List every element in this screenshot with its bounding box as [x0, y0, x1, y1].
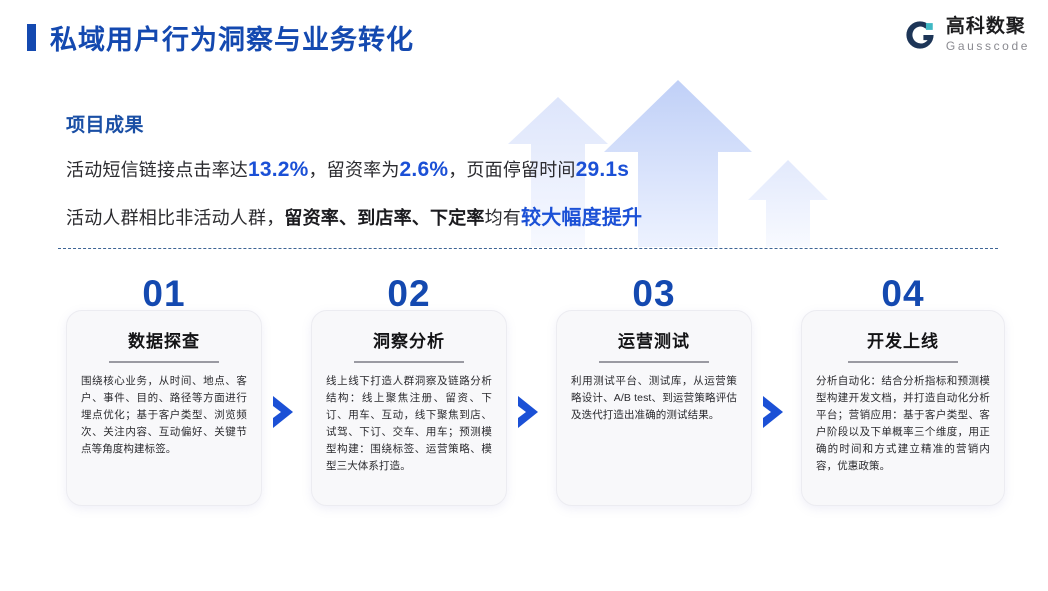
page-title: 私域用户行为洞察与业务转化 [50, 18, 414, 57]
step-rule-2 [354, 361, 464, 363]
results-line1-text1: 活动短信链接点击率达 [66, 160, 248, 180]
step-card-2[interactable]: 02 洞察分析 线上线下打造人群洞察及链路分析结构：线上聚焦注册、留资、下订、用… [311, 310, 507, 506]
step-rule-3 [599, 361, 709, 363]
step-card-1[interactable]: 01 数据探查 围绕核心业务，从时间、地点、客户、事件、目的、路径等方面进行埋点… [66, 310, 262, 506]
results-line-2: 活动人群相比非活动人群，留资率、到店率、下定率均有较大幅度提升 [66, 201, 766, 230]
gausscode-g-mark-icon [903, 18, 937, 52]
results-line1-text3: ，页面停留时间 [448, 160, 575, 180]
logo-name-en: Gausscode [946, 40, 1030, 52]
step-number-1: 01 [67, 273, 261, 315]
company-logo: 高科数聚 Gausscode [903, 17, 1030, 52]
results-line2-emphasis: 留资率、到店率、下定率 [284, 208, 484, 228]
step-body-1: 围绕核心业务，从时间、地点、客户、事件、目的、路径等方面进行埋点优化；基于客户类… [81, 373, 247, 458]
step-title-3: 运营测试 [557, 327, 751, 352]
process-steps: 01 数据探查 围绕核心业务，从时间、地点、客户、事件、目的、路径等方面进行埋点… [0, 268, 1048, 518]
step-title-4: 开发上线 [802, 327, 1004, 352]
step-number-4: 04 [802, 273, 1004, 315]
stat-lead-rate: 2.6% [400, 158, 449, 181]
step-rule-1 [109, 361, 219, 363]
slide-header: 私域用户行为洞察与业务转化 高科数聚 Gausscode [0, 0, 1048, 78]
results-line2-highlight: 较大幅度提升 [521, 207, 642, 229]
logo-name-cn: 高科数聚 [946, 17, 1030, 36]
results-line-1: 活动短信链接点击率达13.2%，留资率为2.6%，页面停留时间29.1s [66, 156, 766, 182]
stat-click-rate: 13.2% [248, 158, 309, 181]
results-line2-text2: 均有 [485, 208, 521, 228]
step-card-4[interactable]: 04 开发上线 分析自动化：结合分析指标和预测模型构建开发文档，并打造自动化分析… [801, 310, 1005, 506]
stat-dwell-time: 29.1s [576, 158, 630, 181]
step-title-1: 数据探查 [67, 327, 261, 352]
section-divider [58, 248, 998, 249]
step-chevron-2-3-icon [515, 394, 541, 430]
results-line1-text2: ，留资率为 [309, 160, 400, 180]
step-body-2: 线上线下打造人群洞察及链路分析结构：线上聚焦注册、留资、下订、用车、互动，线下聚… [326, 373, 492, 475]
step-chevron-1-2-icon [270, 394, 296, 430]
logo-text: 高科数聚 Gausscode [946, 17, 1030, 52]
step-card-3[interactable]: 03 运营测试 利用测试平台、测试库，从运营策略设计、A/B test、到运营策… [556, 310, 752, 506]
step-title-2: 洞察分析 [312, 327, 506, 352]
step-rule-4 [848, 361, 958, 363]
step-number-2: 02 [312, 273, 506, 315]
slide-root: 私域用户行为洞察与业务转化 高科数聚 Gausscode [0, 0, 1048, 591]
results-line2-text1: 活动人群相比非活动人群， [66, 208, 284, 228]
results-heading: 项目成果 [66, 110, 766, 137]
project-results-block: 项目成果 活动短信链接点击率达13.2%，留资率为2.6%，页面停留时间29.1… [66, 110, 766, 230]
step-body-3: 利用测试平台、测试库，从运营策略设计、A/B test、到运营策略评估及迭代打造… [571, 373, 737, 424]
step-body-4: 分析自动化：结合分析指标和预测模型构建开发文档，并打造自动化分析平台；营销应用：… [816, 373, 990, 475]
step-chevron-3-4-icon [760, 394, 786, 430]
title-accent-bar [27, 24, 36, 51]
step-number-3: 03 [557, 273, 751, 315]
